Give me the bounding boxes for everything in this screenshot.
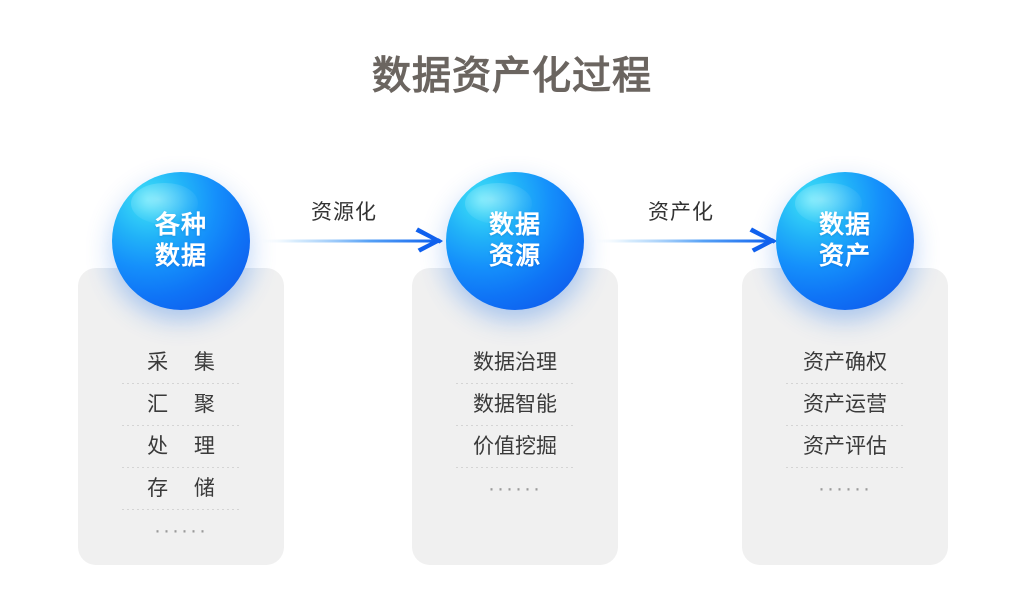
list-item-label: ······ <box>488 477 542 500</box>
stage-sphere-label-1: 各种 数据 <box>112 172 250 310</box>
sphere-line-1: 各种 <box>155 210 207 241</box>
list-item: 处 理 <box>78 426 284 468</box>
stage-column-2: 数据治理 数据智能 价值挖掘 ······ 数据 <box>412 165 618 565</box>
stage-sphere-label-3: 数据 资产 <box>776 172 914 310</box>
list-item-label: 资产运营 <box>803 393 887 416</box>
diagram-canvas: 数据资产化过程 资源化 资产化 <box>0 0 1024 605</box>
stage-card-3: 资产确权 资产运营 资产评估 ······ <box>742 268 948 565</box>
stage-column-3: 资产确权 资产运营 资产评估 ······ 数据 <box>742 165 948 565</box>
list-item: 数据治理 <box>412 342 618 384</box>
stage-card-1: 采 集 汇 聚 处 理 存 储 ······ <box>78 268 284 565</box>
stage-sphere-label-2: 数据 资源 <box>446 172 584 310</box>
sphere-line-2: 资产 <box>819 241 871 272</box>
list-item-label: 数据治理 <box>473 351 557 374</box>
list-item-more: ······ <box>742 468 948 510</box>
list-item-label: 汇 聚 <box>147 393 225 416</box>
list-item-label: ······ <box>818 477 872 500</box>
stage-sphere-1: 各种 数据 <box>112 172 250 310</box>
stage-sphere-3: 数据 资产 <box>776 172 914 310</box>
page-title: 数据资产化过程 <box>0 45 1024 101</box>
list-item-label: 采 集 <box>147 351 225 374</box>
sphere-line-1: 数据 <box>819 210 871 241</box>
list-item-label: ······ <box>154 519 208 542</box>
sphere-line-2: 数据 <box>155 241 207 272</box>
list-item: 资产确权 <box>742 342 948 384</box>
list-item: 汇 聚 <box>78 384 284 426</box>
list-item-label: 资产评估 <box>803 435 887 458</box>
list-item: 资产评估 <box>742 426 948 468</box>
list-item: 数据智能 <box>412 384 618 426</box>
list-item-more: ······ <box>412 468 618 510</box>
stage-item-list-2: 数据治理 数据智能 价值挖掘 ······ <box>412 342 618 510</box>
list-item: 采 集 <box>78 342 284 384</box>
list-item-label: 价值挖掘 <box>473 435 557 458</box>
stage-card-2: 数据治理 数据智能 价值挖掘 ······ <box>412 268 618 565</box>
list-item-label: 数据智能 <box>473 393 557 416</box>
sphere-line-2: 资源 <box>489 241 541 272</box>
sphere-line-1: 数据 <box>489 210 541 241</box>
stage-sphere-2: 数据 资源 <box>446 172 584 310</box>
list-item-more: ······ <box>78 510 284 552</box>
stage-item-list-3: 资产确权 资产运营 资产评估 ······ <box>742 342 948 510</box>
list-item: 存 储 <box>78 468 284 510</box>
list-item: 价值挖掘 <box>412 426 618 468</box>
list-item-label: 存 储 <box>147 477 225 500</box>
list-item-label: 处 理 <box>147 435 225 458</box>
stage-column-1: 采 集 汇 聚 处 理 存 储 ······ <box>78 165 284 565</box>
stage-item-list-1: 采 集 汇 聚 处 理 存 储 ······ <box>78 342 284 552</box>
list-item-label: 资产确权 <box>803 351 887 374</box>
list-item: 资产运营 <box>742 384 948 426</box>
